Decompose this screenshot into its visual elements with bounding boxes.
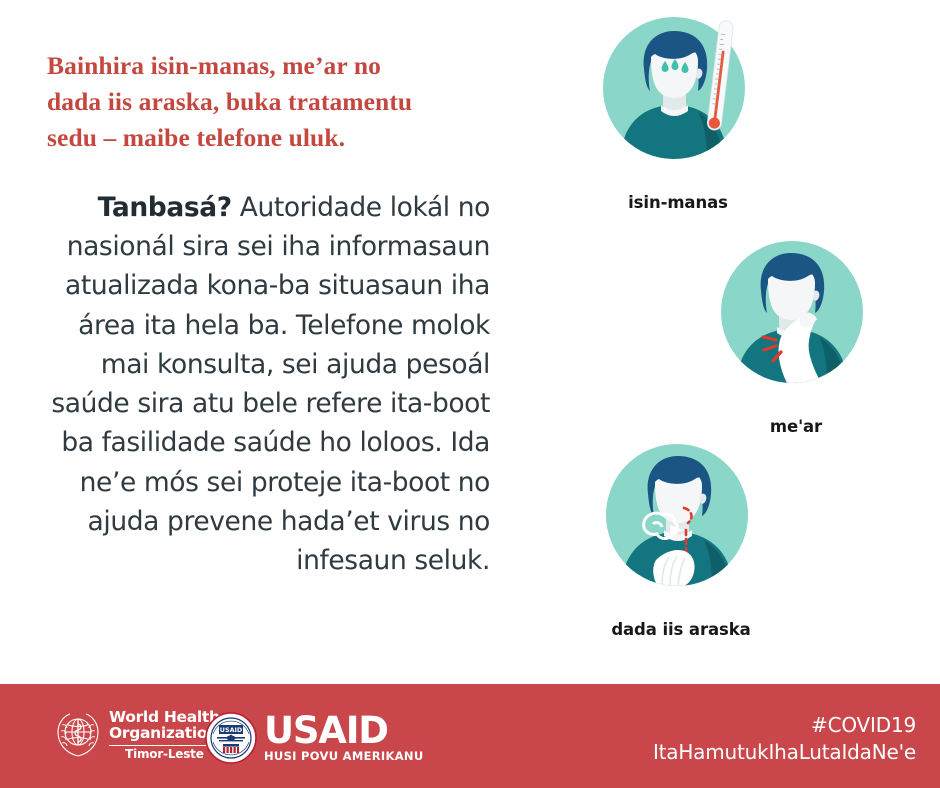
who-country: Timor-Leste [109, 748, 220, 760]
who-emblem-icon [55, 712, 101, 758]
usaid-seal-icon: USAID [205, 712, 257, 764]
who-logo: World Health Organization Timor-Leste [55, 710, 220, 760]
headline-line-1: Bainhira isin-manas, me’ar no [47, 51, 381, 80]
usaid-wordmark: USAID HUSI POVU AMERIKANU [264, 713, 423, 763]
dry-cough-icon [721, 241, 871, 391]
body-lead-question: Tanbasá? [98, 192, 232, 223]
symptom-item-fever: isin-manas [603, 17, 753, 167]
shortness-of-breath-icon [606, 444, 756, 594]
who-wordmark: World Health Organization Timor-Leste [109, 710, 220, 760]
hashtag-campaign: ItaHamutukIhaLutaIdaNe'e [653, 739, 916, 766]
symptom-item-cough: me'ar [721, 241, 871, 391]
usaid-name: USAID [264, 713, 423, 749]
covid-symptoms-poster: Bainhira isin-manas, me’ar no dada iis a… [0, 0, 940, 788]
headline: Bainhira isin-manas, me’ar no dada iis a… [47, 48, 487, 157]
symptom-label-fever: isin-manas [548, 193, 808, 212]
usaid-tagline: HUSI POVU AMERIKANU [264, 749, 423, 763]
who-line-2: Organization [109, 726, 220, 742]
hashtag-covid19: #COVID19 [653, 712, 916, 739]
who-divider [109, 745, 220, 746]
hashtag-block: #COVID19 ItaHamutukIhaLutaIdaNe'e [653, 712, 916, 766]
symptom-label-breath: dada iis araska [551, 620, 811, 639]
svg-text:USAID: USAID [220, 726, 242, 734]
headline-line-3: sedu – maibe telefone uluk. [47, 123, 345, 152]
symptom-item-breath: dada iis araska [606, 444, 756, 594]
usaid-logo: USAID USAID [205, 712, 423, 764]
symptom-label-cough: me'ar [666, 417, 926, 436]
body-text: Autoridade lokál no nasionál sira sei ih… [51, 192, 490, 576]
fever-thermometer-icon [603, 17, 753, 167]
headline-line-2: dada iis araska, buka tratamentu [47, 87, 412, 116]
body-paragraph: Tanbasá? Autoridade lokál no nasionál si… [40, 188, 490, 580]
text-column: Bainhira isin-manas, me’ar no dada iis a… [0, 0, 540, 684]
